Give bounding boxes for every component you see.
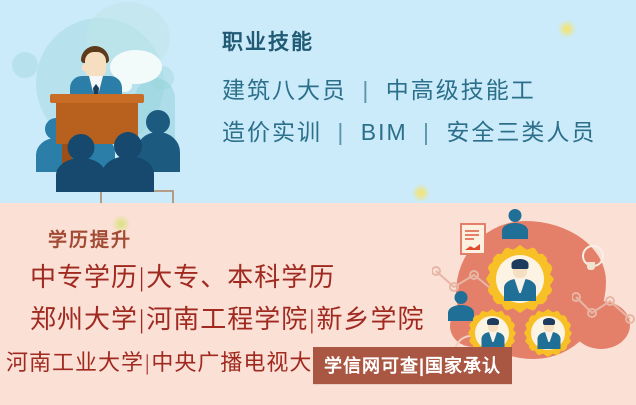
vocational-skills-line-2: 造价实训 | BIM | 安全三类人员 (222, 111, 622, 153)
divider-icon: | (138, 263, 146, 292)
promo-banner: 职业技能 建筑八大员 | 中高级技能工 造价实训 | BIM | 安全三类人员 (0, 0, 636, 405)
degree-item[interactable]: 大专、本科学历 (146, 263, 335, 292)
degree-line-2: 郑州大学|河南工程学院|新乡学院 (30, 299, 424, 336)
user-icon (448, 291, 474, 321)
separator-icon: | (416, 119, 438, 145)
document-icon (460, 223, 486, 255)
degree-line-1: 中专学历|大专、本科学历 (30, 257, 335, 294)
status-badge[interactable]: 学信网可查|国家承认 (313, 347, 512, 384)
divider-icon: | (138, 305, 146, 334)
skill-item[interactable]: 造价实训 (222, 119, 322, 145)
separator-icon: | (355, 77, 377, 103)
skill-item[interactable]: 建筑八大员 (222, 77, 347, 103)
vocational-skills-line-1: 建筑八大员 | 中高级技能工 (222, 69, 622, 111)
person-avatar (477, 317, 509, 349)
school-item[interactable]: 新乡学院 (316, 305, 424, 334)
vocational-skills-panel[interactable]: 职业技能 建筑八大员 | 中高级技能工 造价实训 | BIM | 安全三类人员 (0, 0, 636, 203)
skill-item[interactable]: 中高级技能工 (386, 77, 536, 103)
school-item[interactable]: 河南工程学院 (146, 305, 308, 334)
lightbulb-icon (580, 245, 602, 275)
person-avatar (498, 257, 542, 301)
school-item[interactable]: 中央广播电视大学 (151, 350, 335, 375)
vocational-skills-text-block: 职业技能 建筑八大员 | 中高级技能工 造价实训 | BIM | 安全三类人员 (222, 30, 622, 153)
school-item[interactable]: 郑州大学 (30, 305, 138, 334)
separator-icon: | (330, 119, 352, 145)
speaker-at-podium-illustration (18, 14, 198, 192)
skill-item[interactable]: 安全三类人员 (446, 119, 596, 145)
degree-upgrade-title: 学历提升 (48, 225, 132, 252)
degree-upgrade-panel[interactable]: 学历提升 中专学历|大专、本科学历 郑州大学|河南工程学院|新乡学院 河南工业大… (0, 203, 636, 405)
speaker-ear (82, 64, 87, 71)
school-item[interactable]: 河南工业大学 (6, 350, 144, 375)
degree-item[interactable]: 中专学历 (30, 263, 138, 292)
person-avatar (533, 317, 565, 349)
vocational-skills-title: 职业技能 (222, 30, 622, 55)
skill-item[interactable]: BIM (361, 119, 408, 145)
speaker-head (85, 52, 106, 78)
degree-line-3: 河南工业大学|中央广播电视大学 (6, 345, 335, 377)
audience-silhouette-icon (102, 132, 154, 192)
podium-top (50, 94, 144, 103)
user-icon (502, 209, 528, 239)
audience-silhouette-icon (56, 134, 106, 192)
connector-dots-right (572, 287, 636, 331)
